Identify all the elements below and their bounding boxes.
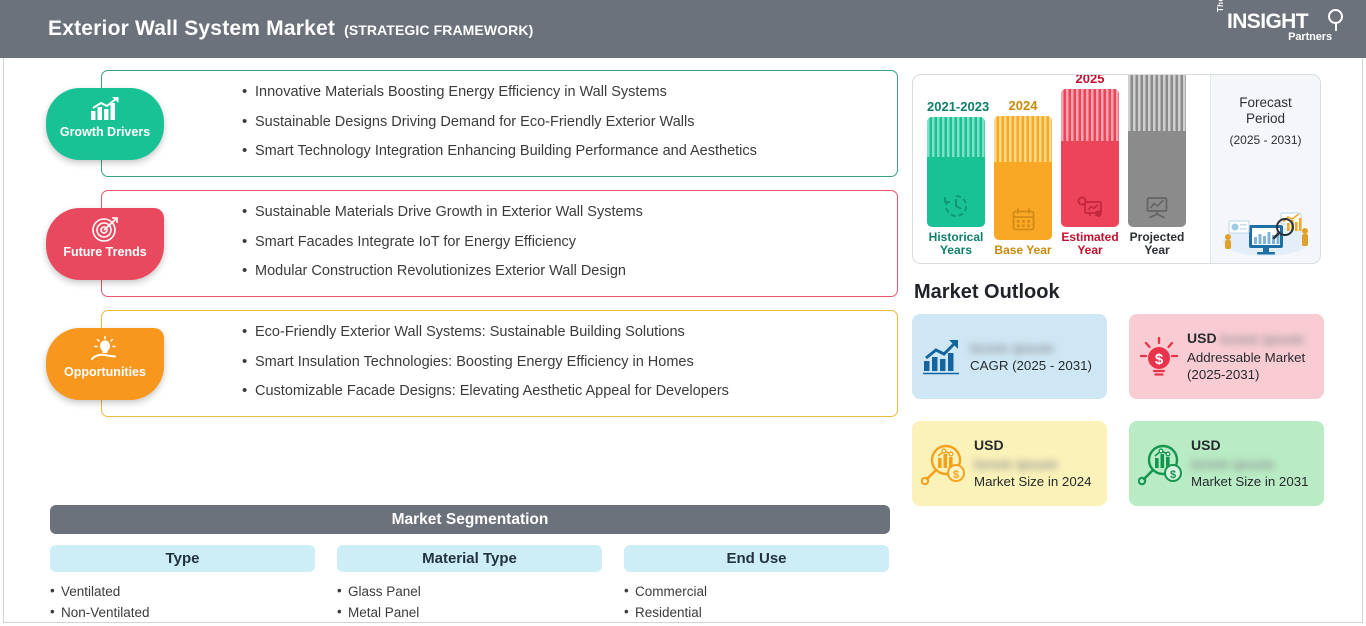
svg-text:$: $ (1155, 351, 1164, 368)
bullet-list-future-trends: Sustainable Materials Drive Growth in Ex… (242, 205, 883, 279)
outlook-card-value: lorem ipsum (1191, 456, 1275, 473)
outlook-card-label: CAGR (2025 - 2031) (970, 358, 1092, 373)
outlook-card-text: lorem ipsum CAGR (2025 - 2031) (970, 339, 1092, 374)
magnifier-chart-dollar-icon: $ (1138, 442, 1184, 486)
outlook-card-value: lorem ipsum (970, 340, 1054, 357)
svg-text:$: $ (1170, 469, 1176, 481)
bullet-list-opportunities: Eco-Friendly Exterior Wall Systems: Sust… (242, 325, 883, 399)
bar-caption: Projected Year (1128, 231, 1186, 257)
outlook-card-market-size-2024[interactable]: $ USD lorem ipsum Market Size in 2024 (912, 421, 1107, 506)
bar-projected (1128, 74, 1186, 227)
page-title: Exterior Wall System Market (48, 17, 335, 41)
logo-the-text: The (1216, 0, 1225, 12)
badge-label-opportunities: Opportunities (64, 365, 146, 379)
clock-history-icon (927, 193, 985, 219)
outlook-card-prefix: USD (1191, 437, 1221, 453)
outlook-card-value: lorem ipsum (1220, 331, 1304, 348)
bar-year-label: 2021-2023 (927, 99, 985, 114)
list-item: Smart Technology Integration Enhancing B… (242, 144, 883, 159)
page-subtitle: (STRATEGIC FRAMEWORK) (344, 22, 533, 38)
data-analysis-illustration (1219, 201, 1313, 257)
market-outlook-cards: lorem ipsum CAGR (2025 - 2031) $ (912, 314, 1327, 506)
forecast-title-line1: Forecast (1211, 95, 1320, 111)
list-item: Smart Insulation Technologies: Boosting … (242, 355, 883, 370)
bar-chart-growth-icon (88, 94, 122, 124)
bar-historical (927, 117, 985, 227)
company-logo: The INSIGHT Partners (1216, 8, 1344, 50)
segmentation-header: Type (50, 545, 315, 572)
segmentation-column-material-type: Material Type Glass Panel Metal Panel Pl… (337, 545, 602, 626)
magnifier-chart-dollar-icon: $ (921, 442, 967, 486)
dollar-bulb-icon: $ (1138, 336, 1180, 378)
list-item: Ventilated (50, 582, 315, 603)
segmentation-header: End Use (624, 545, 889, 572)
badge-future-trends[interactable]: Future Trends (46, 208, 164, 280)
target-dart-icon (90, 214, 120, 244)
forecast-period-panel: Forecast Period (2025 - 2031) (1210, 75, 1320, 264)
segmentation-list-type: Ventilated Non-Ventilated Curtain Wall (50, 582, 315, 626)
forecast-title-line2: Period (1211, 111, 1320, 127)
list-item: Sustainable Designs Driving Demand for E… (242, 115, 883, 130)
list-item: Innovative Materials Boosting Energy Eff… (242, 85, 883, 100)
category-opportunities: Opportunities Eco-Friendly Exterior Wall… (46, 310, 898, 417)
outlook-card-label: Addressable Market (2025-2031) (1187, 350, 1305, 382)
calendar-icon (994, 207, 1052, 232)
category-box-future-trends: Sustainable Materials Drive Growth in Ex… (101, 190, 898, 297)
outlook-card-text: USD lorem ipsum Addressable Market (2025… (1187, 330, 1315, 382)
list-item: Residential (624, 603, 889, 624)
badge-growth-drivers[interactable]: Growth Drivers (46, 88, 164, 160)
infographic-page: Exterior Wall System Market (STRATEGIC F… (0, 0, 1366, 626)
strategic-categories: Growth Drivers Innovative Materials Boos… (46, 70, 898, 430)
chart-bars: 2021-2023 H (927, 75, 1187, 264)
analytics-gear-icon (1061, 195, 1119, 219)
segmentation-header: Material Type (337, 545, 602, 572)
logo-partners-text: Partners (1288, 31, 1332, 43)
market-outlook-title: Market Outlook (914, 281, 1327, 304)
category-box-opportunities: Eco-Friendly Exterior Wall Systems: Sust… (101, 310, 898, 417)
segmentation-column-type: Type Ventilated Non-Ventilated Curtain W… (50, 545, 315, 626)
segmentation-column-end-use: End Use Commercial Residential Industria… (624, 545, 889, 626)
list-item: Eco-Friendly Exterior Wall Systems: Sust… (242, 325, 883, 340)
list-item: Modular Construction Revolutionizes Exte… (242, 264, 883, 279)
bar-chart-arrow-icon (921, 337, 963, 377)
logo-tail-icon (1335, 22, 1337, 31)
bullet-list-growth-drivers: Innovative Materials Boosting Energy Eff… (242, 85, 883, 159)
list-item: Metal Panel (337, 603, 602, 624)
content-frame: Growth Drivers Innovative Materials Boos… (3, 58, 1363, 623)
bar-group-projected: 2031 Projec (1128, 74, 1186, 257)
badge-label-growth-drivers: Growth Drivers (60, 125, 150, 139)
list-item: Sustainable Materials Drive Growth in Ex… (242, 205, 883, 220)
right-panel: 2021-2023 H (912, 74, 1327, 506)
bar-caption: Base Year (994, 244, 1052, 257)
outlook-card-prefix: USD (1187, 330, 1217, 346)
bar-group-historical: 2021-2023 H (927, 99, 985, 257)
bar-caption: Estimated Year (1061, 231, 1119, 257)
segmentation-list-material-type: Glass Panel Metal Panel Plaster Boards (337, 582, 602, 626)
svg-text:$: $ (953, 469, 959, 481)
outlook-card-addressable-market[interactable]: $ USD lorem ipsum Addressable Market (20… (1129, 314, 1324, 399)
segmentation-list-end-use: Commercial Residential Industrial (624, 582, 889, 626)
bar-caption: Historical Years (927, 231, 985, 257)
list-item: Smart Facades Integrate IoT for Energy E… (242, 235, 883, 250)
bar-base (994, 116, 1052, 240)
segmentation-columns: Type Ventilated Non-Ventilated Curtain W… (50, 545, 890, 626)
outlook-card-label: Market Size in 2024 (974, 474, 1092, 489)
market-segmentation: Market Segmentation Type Ventilated Non-… (50, 505, 890, 626)
category-future-trends: Future Trends Sustainable Materials Driv… (46, 190, 898, 297)
outlook-card-label: Market Size in 2031 (1191, 474, 1309, 489)
outlook-card-market-size-2031[interactable]: $ USD lorem ipsum Market Size in 2031 (1129, 421, 1324, 506)
segmentation-title: Market Segmentation (50, 505, 890, 534)
bar-group-estimated: 2025 (1061, 74, 1119, 257)
lightbulb-hand-icon (89, 334, 121, 364)
list-item: Non-Ventilated (50, 603, 315, 624)
outlook-card-text: USD lorem ipsum Market Size in 2031 (1191, 437, 1309, 490)
list-item: Customizable Facade Designs: Elevating A… (242, 384, 883, 399)
list-item: Glass Panel (337, 582, 602, 603)
bar-group-base: 2024 (994, 98, 1052, 257)
bar-estimated (1061, 89, 1119, 227)
list-item: Commercial (624, 582, 889, 603)
badge-label-future-trends: Future Trends (63, 245, 146, 259)
category-box-growth-drivers: Innovative Materials Boosting Energy Eff… (101, 70, 898, 177)
bar-year-label: 2025 (1061, 74, 1119, 86)
outlook-card-prefix: USD (974, 437, 1004, 453)
outlook-card-cagr[interactable]: lorem ipsum CAGR (2025 - 2031) (912, 314, 1107, 399)
forecast-range: (2025 - 2031) (1211, 133, 1320, 147)
outlook-card-text: USD lorem ipsum Market Size in 2024 (974, 437, 1092, 490)
forecast-period-chart: 2021-2023 H (912, 74, 1321, 264)
outlook-card-value: lorem ipsum (974, 456, 1058, 473)
badge-opportunities[interactable]: Opportunities (46, 328, 164, 400)
presentation-chart-icon (1128, 195, 1186, 219)
bar-year-label: 2024 (994, 98, 1052, 113)
category-growth-drivers: Growth Drivers Innovative Materials Boos… (46, 70, 898, 177)
page-header: Exterior Wall System Market (STRATEGIC F… (0, 0, 1366, 58)
